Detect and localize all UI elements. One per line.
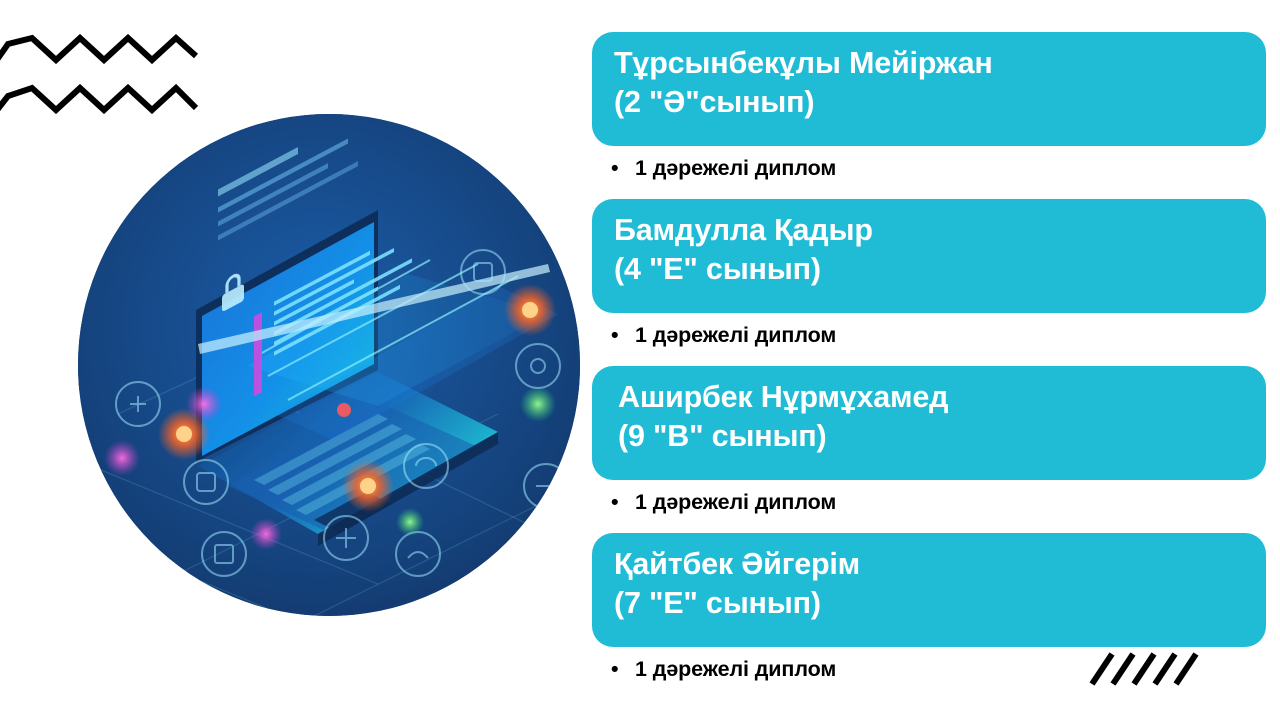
slash-2	[1113, 654, 1133, 684]
bullet-icon: •	[611, 492, 635, 514]
student-name: Тұрсынбекұлы Мейіржан	[614, 46, 993, 80]
zigzag-line-bottom	[0, 88, 196, 114]
award-item: Аширбек Нұрмұхамед (9 "В" сынып) • 1 дәр…	[592, 366, 1266, 515]
student-name-card[interactable]: Аширбек Нұрмұхамед (9 "В" сынып)	[592, 366, 1266, 480]
awards-list: Тұрсынбекұлы Мейіржан (2 "Ә"сынып) • 1 д…	[592, 0, 1280, 720]
student-name: Бамдулла Қадыр	[614, 213, 873, 247]
slash-1	[1092, 654, 1112, 684]
award-result-text: 1 дәрежелі диплом	[635, 323, 836, 348]
bullet-icon: •	[611, 659, 635, 681]
slash-5	[1176, 654, 1196, 684]
bullet-icon: •	[611, 325, 635, 347]
student-class: (9 "В" сынып)	[618, 419, 826, 453]
slash-4	[1155, 654, 1175, 684]
award-result-line: • 1 дәрежелі диплом	[592, 490, 1266, 515]
award-result-line: • 1 дәрежелі диплом	[592, 156, 1266, 181]
student-class: (4 "Е" сынып)	[614, 252, 821, 286]
zigzag-line-top	[0, 38, 196, 64]
student-class: (7 "Е" сынып)	[614, 586, 821, 620]
bullet-icon: •	[611, 158, 635, 180]
award-result-text: 1 дәрежелі диплом	[635, 490, 836, 515]
award-result-text: 1 дәрежелі диплом	[635, 156, 836, 181]
student-name-card[interactable]: Тұрсынбекұлы Мейіржан (2 "Ә"сынып)	[592, 32, 1266, 146]
student-name-card[interactable]: Бамдулла Қадыр (4 "Е" сынып)	[592, 199, 1266, 313]
award-result-text: 1 дәрежелі диплом	[635, 657, 836, 682]
student-name: Аширбек Нұрмұхамед	[618, 380, 948, 414]
slashes-decoration	[1080, 648, 1210, 690]
student-class: (2 "Ә"сынып)	[614, 85, 814, 119]
zigzag-decoration	[0, 26, 200, 116]
student-name-card[interactable]: Қайтбек Әйгерім (7 "Е" сынып)	[592, 533, 1266, 647]
award-result-line: • 1 дәрежелі диплом	[592, 323, 1266, 348]
laptop-photo	[78, 114, 580, 616]
award-item: Бамдулла Қадыр (4 "Е" сынып) • 1 дәрежел…	[592, 199, 1266, 348]
slash-3	[1134, 654, 1154, 684]
award-item: Тұрсынбекұлы Мейіржан (2 "Ә"сынып) • 1 д…	[592, 32, 1266, 181]
student-name: Қайтбек Әйгерім	[614, 547, 860, 581]
slide-canvas: Тұрсынбекұлы Мейіржан (2 "Ә"сынып) • 1 д…	[0, 0, 1280, 720]
